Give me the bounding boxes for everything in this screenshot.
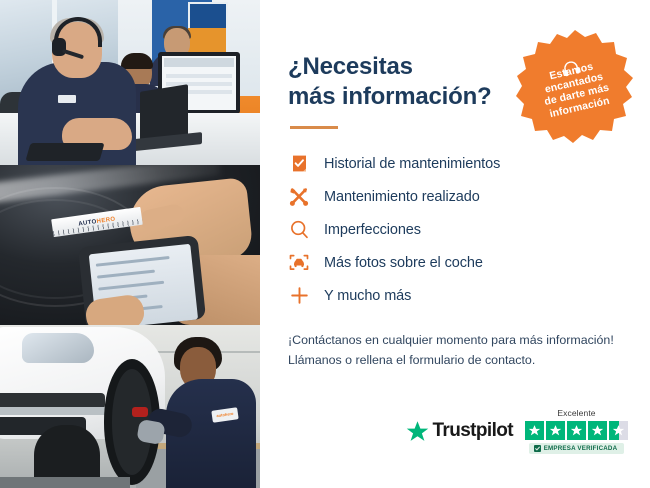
- trustpilot-widget[interactable]: Trustpilot Excelente EMPRESA VERIFICAD: [406, 408, 628, 454]
- information-banner: AUTOHERO: [0, 0, 650, 488]
- magnifier-icon: [288, 219, 310, 241]
- feature-item-maintenance-history: Historial de mantenimientos: [288, 147, 626, 180]
- star-filled: [588, 421, 607, 440]
- contact-text: ¡Contáctanos en cualquier momento para m…: [288, 330, 626, 370]
- desk-tablet: [25, 143, 104, 161]
- photo-column: AUTOHERO: [0, 0, 260, 488]
- promo-starburst-badge: Estamos encantados de darte más informac…: [514, 28, 636, 146]
- agent-1-name-badge: [58, 95, 76, 103]
- trustpilot-logo[interactable]: Trustpilot: [406, 420, 513, 443]
- contact-line-2: Llámanos o rellena el formulario de cont…: [288, 353, 535, 367]
- verified-business-badge: EMPRESA VERIFICADA: [529, 443, 625, 454]
- clipboard-check-icon: [288, 153, 310, 175]
- trustpilot-star-icon: [406, 420, 429, 443]
- mechanic-wheel-photo: autohero: [0, 325, 260, 488]
- feature-label: Mantenimiento realizado: [324, 189, 480, 205]
- verified-label: EMPRESA VERIFICADA: [544, 445, 618, 452]
- headline-line-2: más información?: [288, 83, 492, 110]
- plus-icon: [288, 285, 310, 307]
- monitor-toolbar: [164, 58, 234, 67]
- car-lift-arm: [0, 477, 130, 488]
- star-half: [609, 421, 628, 440]
- monitor-row: [166, 74, 232, 78]
- contact-line-1: ¡Contáctanos en cualquier momento para m…: [288, 333, 614, 347]
- feature-label: Imperfecciones: [324, 222, 421, 238]
- star-filled: [525, 421, 544, 440]
- feature-item-much-more: Y mucho más: [288, 279, 626, 312]
- car-scan-icon: [288, 252, 310, 274]
- title-divider: [290, 126, 338, 129]
- verified-check-icon: [534, 445, 541, 452]
- feature-item-maintenance-done: Mantenimiento realizado: [288, 180, 626, 213]
- tablet-line: [96, 256, 170, 267]
- headline-line-1: ¿Necesitas: [288, 53, 413, 80]
- tools-cross-icon: [288, 186, 310, 208]
- star-rating: [525, 421, 628, 440]
- star-filled: [546, 421, 565, 440]
- call-center-agents-photo: [0, 0, 260, 165]
- trustpilot-rating-block: Excelente EMPRESA VERIFICADA: [525, 408, 628, 454]
- agent-2-hair: [121, 53, 153, 69]
- feature-item-more-photos: Más fotos sobre el coche: [288, 246, 626, 279]
- mechanic-glove: [136, 419, 165, 445]
- page-title: ¿Necesitas más información?: [288, 52, 518, 112]
- wall-poster-orange: [188, 28, 226, 52]
- tablet-line: [98, 281, 164, 291]
- tablet-line: [97, 270, 155, 279]
- car-bumper: [0, 407, 108, 415]
- car-inspection-ruler-photo: AUTOHERO: [0, 165, 260, 325]
- trustpilot-wordmark: Trustpilot: [432, 420, 513, 442]
- feature-item-imperfections: Imperfecciones: [288, 213, 626, 246]
- rear-wheel: [34, 425, 100, 483]
- mechanic-tool: [132, 407, 148, 417]
- feature-label: Historial de mantenimientos: [324, 156, 500, 172]
- car-headlight: [22, 333, 94, 363]
- feature-list: Historial de mantenimientos Mantenimient…: [288, 147, 626, 312]
- feature-label: Y mucho más: [324, 288, 411, 304]
- rating-label: Excelente: [557, 408, 595, 418]
- feature-label: Más fotos sobre el coche: [324, 255, 483, 271]
- content-panel: Estamos encantados de darte más informac…: [260, 0, 650, 488]
- star-filled: [567, 421, 586, 440]
